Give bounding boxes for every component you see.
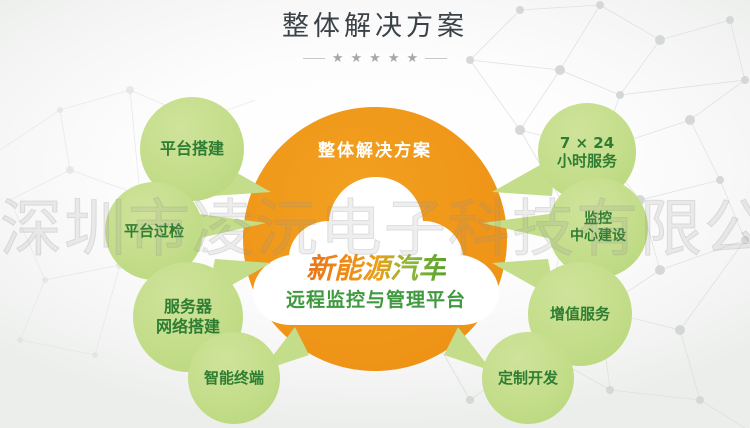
center-circle-title: 整体解决方案 [243,136,507,161]
cloud-subtitle: 远程监控与管理平台 [286,287,466,313]
star-icon: ★ [369,52,381,65]
header: 整体解决方案 ★ ★ ★ ★ ★ [0,8,750,65]
poster-canvas: 整体解决方案 ★ ★ ★ ★ ★ 整体解决方案 [0,0,750,428]
bubble-label: 智能终端 [204,369,264,387]
bubble-label: 增值服务 [550,305,610,323]
star-icon: ★ [388,52,400,65]
bubble-tail [478,205,558,245]
page-title: 整体解决方案 [0,8,750,46]
bubble-label: 平台搭建 [160,139,224,159]
star-divider: ★ ★ ★ ★ ★ [0,52,750,65]
bubble-custom-dev[interactable]: 定制开发 [482,332,574,424]
bubble-label: 定制开发 [498,369,558,387]
bubble-label-line1: 监控 [584,211,612,228]
bubble-label: 平台过检 [124,222,184,240]
star-icon: ★ [406,52,418,65]
star-icon: ★ [332,52,344,65]
bubble-label-line2: 小时服务 [557,152,617,170]
star-icon: ★ [351,52,363,65]
cloud-title: 新能源汽车 [306,252,446,286]
bubble-smart-terminal[interactable]: 智能终端 [188,332,280,424]
cloud-text-block: 新能源汽车 远程监控与管理平台 [251,175,501,327]
bubble-label-line2: 网络搭建 [156,317,220,337]
divider-rule-left [303,58,325,59]
bubble-label-line1: 7 × 24 [560,134,614,152]
divider-rule-right [425,58,447,59]
bubble-label-line1: 服务器 [164,297,212,317]
bubble-monitor-center[interactable]: 监控 中心建设 [548,178,648,278]
bubble-label-line2: 中心建设 [570,228,626,245]
